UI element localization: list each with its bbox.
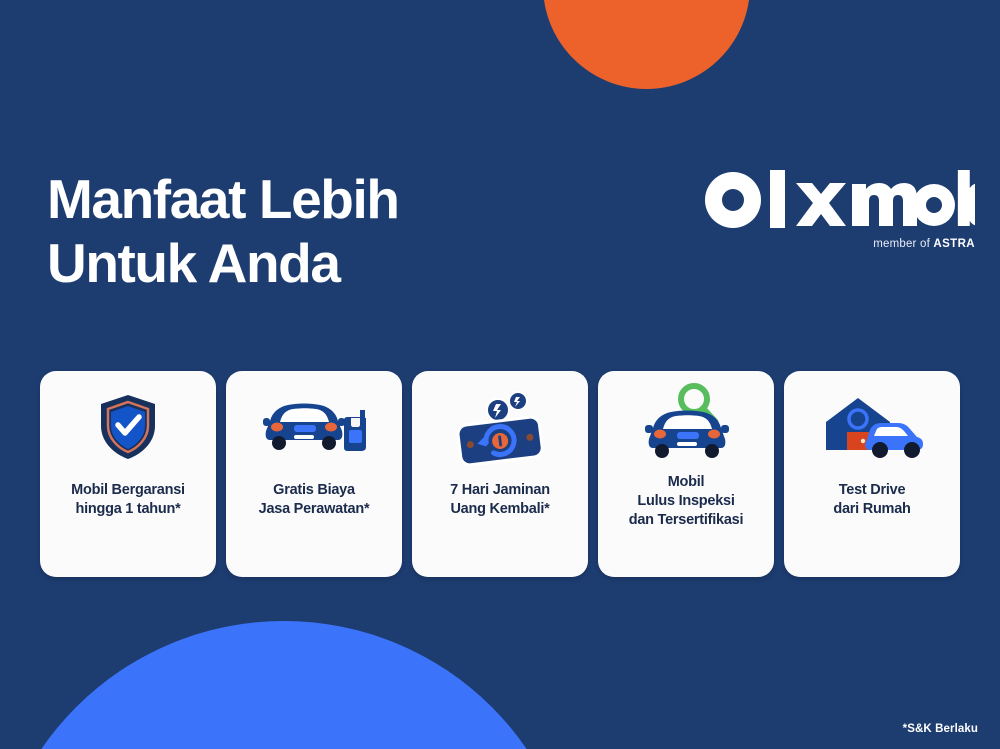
benefit-card-warranty[interactable]: Mobil Bergaransi hingga 1 tahun* (40, 371, 216, 577)
brand-logo: member of ASTRA (700, 170, 975, 250)
benefit-card-label: Test Drive dari Rumah (827, 475, 916, 577)
logo-subtitle: member of ASTRA (700, 238, 975, 250)
benefit-card-free-service[interactable]: Gratis Biaya Jasa Perawatan* (226, 371, 402, 577)
benefit-card-list: Mobil Bergaransi hingga 1 tahun* (40, 371, 960, 577)
decorative-blue-circle (0, 621, 578, 749)
benefit-card-label: 7 Hari Jaminan Uang Kembali* (444, 475, 556, 577)
car-oil-can-icon (262, 371, 366, 475)
house-car-icon (818, 371, 926, 475)
terms-footnote: *S&K Berlaku (903, 723, 978, 735)
olxmobbi-logo-icon (700, 170, 975, 235)
shield-check-icon (97, 371, 159, 475)
car-magnifier-inspection-icon (639, 371, 733, 467)
benefit-card-label: Mobil Lulus Inspeksi dan Tersertifikasi (623, 467, 750, 577)
benefit-card-inspection[interactable]: Mobil Lulus Inspeksi dan Tersertifikasi (598, 371, 774, 577)
money-refund-icon (450, 371, 550, 475)
decorative-orange-circle (543, 0, 750, 89)
benefit-card-home-test-drive[interactable]: Test Drive dari Rumah (784, 371, 960, 577)
benefit-card-label: Mobil Bergaransi hingga 1 tahun* (65, 475, 191, 577)
promo-banner: Manfaat Lebih Untuk Anda (0, 0, 1000, 749)
benefit-card-money-back[interactable]: 7 Hari Jaminan Uang Kembali* (412, 371, 588, 577)
benefit-card-label: Gratis Biaya Jasa Perawatan* (253, 475, 376, 577)
logo-subtitle-brand: ASTRA (933, 238, 975, 250)
page-title: Manfaat Lebih Untuk Anda (47, 168, 399, 296)
logo-subtitle-prefix: member of (873, 238, 933, 250)
